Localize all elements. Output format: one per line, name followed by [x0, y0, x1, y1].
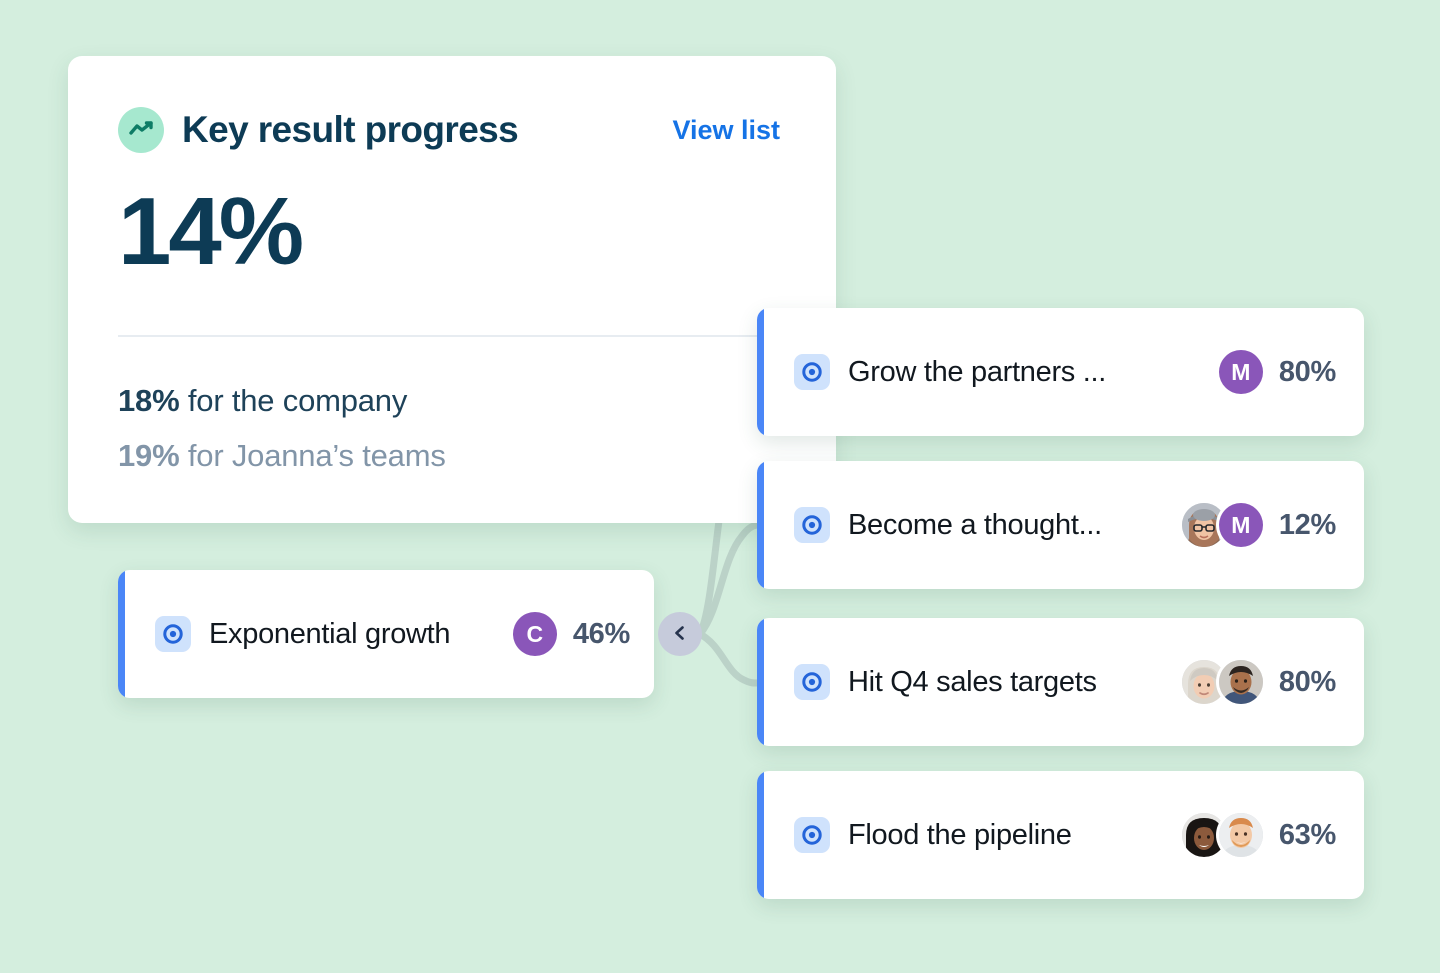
avatar[interactable]: C [513, 612, 557, 656]
goal-card-become-a-thought-leader[interactable]: Become a thought... [757, 461, 1364, 589]
divider [118, 335, 778, 337]
avatar[interactable] [1219, 813, 1263, 857]
connector-to-goal-2 [700, 634, 757, 683]
card-header: Key result progress View list [118, 104, 784, 156]
goal-card-content: Hit Q4 sales targets [764, 618, 1364, 746]
stat-teams: 19% for Joanna’s teams [118, 428, 784, 483]
goal-meta: C 46% [491, 612, 630, 656]
connector-to-goal-1 [700, 525, 757, 634]
goal-target-icon [794, 354, 830, 390]
stat-teams-value: 19% [118, 438, 179, 473]
view-list-link[interactable]: View list [672, 115, 784, 146]
stat-teams-label: for Joanna’s teams [179, 438, 445, 473]
page-title: Key result progress [182, 109, 518, 151]
headline-percent: 14% [118, 184, 784, 280]
stat-company: 18% for the company [118, 373, 784, 428]
goal-target-icon [794, 817, 830, 853]
goal-target-icon [794, 664, 830, 700]
accent-bar [757, 618, 764, 746]
avatar[interactable]: M [1219, 350, 1263, 394]
goal-percent: 80% [1279, 356, 1336, 389]
goal-percent: 80% [1279, 666, 1336, 699]
goal-meta: 80% [1168, 660, 1336, 704]
key-result-progress-card: Key result progress View list 14% 18% fo… [68, 56, 836, 523]
accent-bar [118, 570, 125, 698]
goal-percent: 63% [1279, 819, 1336, 852]
goal-meta: M 80% [1205, 350, 1336, 394]
accent-bar [757, 771, 764, 899]
goal-card-content: Flood the pipeline [764, 771, 1364, 899]
avatar-group: M [1182, 503, 1263, 547]
goal-card-hit-q4-sales-targets[interactable]: Hit Q4 sales targets [757, 618, 1364, 746]
goal-meta: 63% [1168, 813, 1336, 857]
goal-meta: M 12% [1168, 503, 1336, 547]
avatar-group [1182, 813, 1263, 857]
avatar-group [1182, 660, 1263, 704]
stat-company-label: for the company [179, 383, 407, 418]
avatar[interactable]: M [1219, 503, 1263, 547]
goal-percent: 12% [1279, 509, 1336, 542]
goal-target-icon [155, 616, 191, 652]
chevron-left-icon [671, 624, 689, 645]
goal-label: Hit Q4 sales targets [848, 666, 1097, 699]
accent-bar [757, 308, 764, 436]
goal-target-icon [794, 507, 830, 543]
stat-company-value: 18% [118, 383, 179, 418]
goal-card-content: Exponential growth C 46% [125, 570, 654, 698]
goal-label: Flood the pipeline [848, 819, 1072, 852]
goal-label: Become a thought... [848, 509, 1102, 542]
accent-bar [757, 461, 764, 589]
avatar-group: C [513, 612, 557, 656]
collapse-toggle-button[interactable] [658, 612, 702, 656]
goal-card-content: Grow the partners ... M 80% [764, 308, 1364, 436]
goal-label: Exponential growth [209, 618, 450, 651]
avatar[interactable] [1219, 660, 1263, 704]
page-root: Key result progress View list 14% 18% fo… [0, 0, 1440, 973]
goal-card-content: Become a thought... [764, 461, 1364, 589]
summary-stats: 18% for the company 19% for Joanna’s tea… [118, 373, 784, 483]
goal-percent: 46% [573, 618, 630, 651]
goal-card-exponential-growth[interactable]: Exponential growth C 46% [118, 570, 654, 698]
avatar-group: M [1219, 350, 1263, 394]
goal-label: Grow the partners ... [848, 356, 1106, 389]
goal-card-grow-the-partners[interactable]: Grow the partners ... M 80% [757, 308, 1364, 436]
trend-line-icon [118, 107, 164, 153]
goal-card-flood-the-pipeline[interactable]: Flood the pipeline [757, 771, 1364, 899]
